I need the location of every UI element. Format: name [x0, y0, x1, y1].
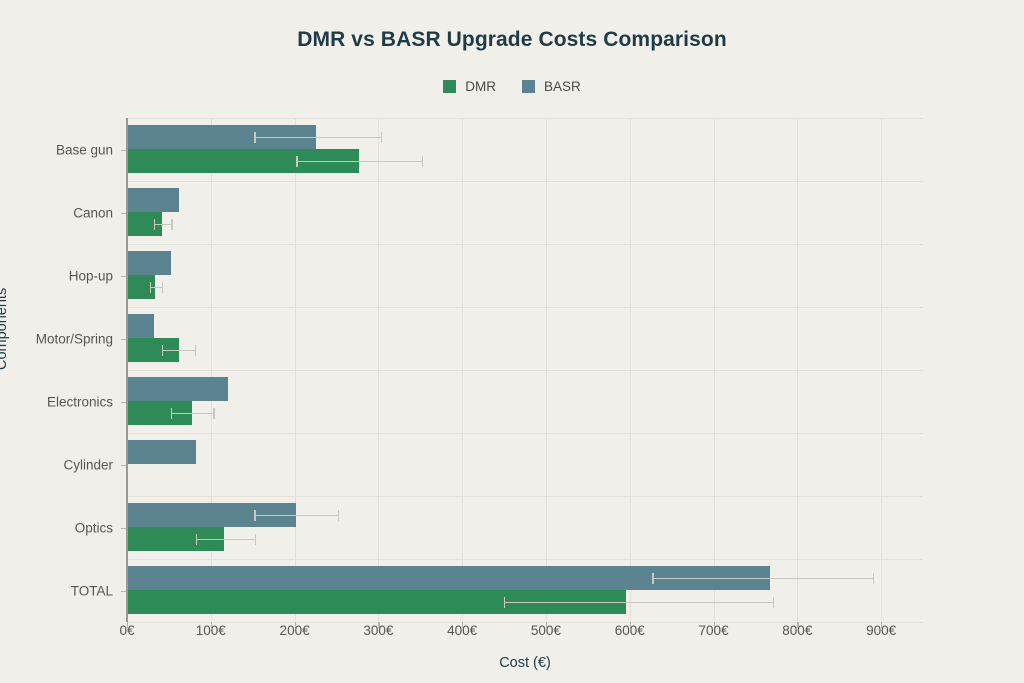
gridline-horizontal [127, 244, 923, 245]
error-bar-cap-dmr [422, 156, 423, 167]
y-axis-tick [121, 150, 126, 151]
error-bar-cap-dmr [171, 408, 172, 419]
legend-label-basr: BASR [544, 79, 581, 94]
x-axis-tick-label: 900€ [866, 623, 896, 638]
y-axis-tick [121, 402, 126, 403]
error-bar-basr [254, 137, 381, 138]
error-bar-cap-dmr [296, 156, 297, 167]
legend-swatch-dmr [443, 80, 456, 93]
x-axis-tick-label: 700€ [698, 623, 728, 638]
error-bar-cap-dmr [154, 219, 155, 230]
gridline-horizontal [127, 433, 923, 434]
x-axis-title: Cost (€) [127, 655, 923, 671]
y-axis-tick [121, 276, 126, 277]
error-bar-dmr [504, 602, 773, 603]
error-bar-cap-dmr [162, 345, 163, 356]
x-axis-tick-label: 100€ [196, 623, 226, 638]
error-bar-dmr [296, 161, 422, 162]
error-bar-cap-dmr [213, 408, 214, 419]
x-axis-tick-label: 300€ [363, 623, 393, 638]
chart-figure: DMR vs BASR Upgrade Costs Comparison DMR… [0, 0, 1024, 683]
legend-item-dmr[interactable]: DMR [443, 79, 496, 94]
y-axis-tick-label: Canon [73, 205, 113, 220]
y-axis-tick-label: Electronics [47, 394, 113, 409]
error-bar-cap-dmr [504, 597, 505, 608]
y-axis-tick [121, 213, 126, 214]
error-bar-cap-dmr [255, 534, 256, 545]
x-axis-tick-label: 800€ [782, 623, 812, 638]
error-bar-cap-dmr [195, 345, 196, 356]
error-bar-cap-dmr [196, 534, 197, 545]
gridline-horizontal [127, 118, 923, 119]
gridline-horizontal [127, 370, 923, 371]
error-bar-dmr [162, 350, 195, 351]
y-axis-tick-label: Hop-up [69, 268, 113, 283]
x-axis-tick-label: 600€ [615, 623, 645, 638]
y-axis-tick-label: Base gun [56, 142, 113, 157]
error-bar-dmr [150, 287, 163, 288]
legend-swatch-basr [522, 80, 535, 93]
gridline-horizontal [127, 181, 923, 182]
chart-legend: DMR BASR [0, 79, 1024, 94]
y-axis-tick [121, 339, 126, 340]
bar-basr[interactable] [127, 251, 171, 275]
bar-basr[interactable] [127, 377, 228, 401]
bar-basr[interactable] [127, 314, 154, 338]
error-bar-cap-dmr [171, 219, 172, 230]
y-axis-tick [121, 591, 126, 592]
y-axis-title: Components [0, 288, 10, 370]
error-bar-cap-basr [873, 573, 874, 584]
error-bar-cap-dmr [150, 282, 151, 293]
y-axis-tick-label: Optics [75, 520, 113, 535]
error-bar-dmr [171, 413, 214, 414]
y-axis-tick [121, 528, 126, 529]
y-axis-spine [126, 118, 128, 622]
gridline-horizontal [127, 496, 923, 497]
x-axis-tick-label: 500€ [531, 623, 561, 638]
y-axis-tick-label: TOTAL [71, 583, 113, 598]
error-bar-basr [254, 515, 338, 516]
legend-label-dmr: DMR [465, 79, 496, 94]
bar-basr[interactable] [127, 188, 179, 212]
error-bar-cap-basr [381, 132, 382, 143]
error-bar-dmr [196, 539, 255, 540]
legend-item-basr[interactable]: BASR [522, 79, 581, 94]
y-axis-tick [121, 465, 126, 466]
gridline-horizontal [127, 307, 923, 308]
error-bar-cap-basr [652, 573, 653, 584]
gridline-horizontal [127, 559, 923, 560]
page-title: DMR vs BASR Upgrade Costs Comparison [0, 28, 1024, 52]
x-axis-tick-label: 0€ [119, 623, 134, 638]
error-bar-cap-dmr [773, 597, 774, 608]
error-bar-cap-basr [254, 132, 255, 143]
y-axis-tick-label: Cylinder [63, 457, 113, 472]
bar-basr[interactable] [127, 440, 196, 464]
error-bar-cap-basr [338, 510, 339, 521]
x-axis-tick-label: 400€ [447, 623, 477, 638]
plot-area [127, 118, 923, 622]
y-axis-tick-label: Motor/Spring [36, 331, 113, 346]
x-axis-tick-label: 200€ [280, 623, 310, 638]
error-bar-cap-dmr [162, 282, 163, 293]
error-bar-basr [652, 578, 872, 579]
error-bar-dmr [154, 224, 172, 225]
y-axis-tick-labels: Base gunCanonHop-upMotor/SpringElectroni… [0, 0, 113, 683]
error-bar-cap-basr [254, 510, 255, 521]
